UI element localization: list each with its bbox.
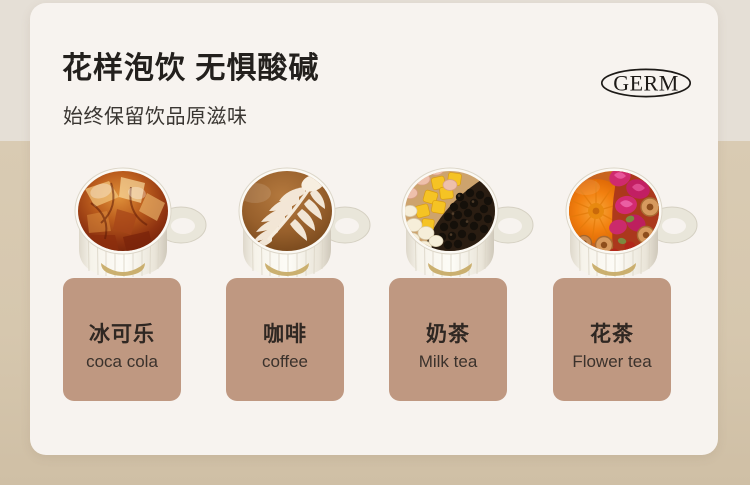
mug-milk-tea — [388, 163, 552, 295]
product-item[interactable]: 花茶 Flower tea — [552, 143, 716, 455]
product-item[interactable]: 咖啡 coffee — [225, 143, 389, 455]
promo-card: 花样泡饮 无惧酸碱 始终保留饮品原滋味 GERM 冰可乐 coca cola — [30, 3, 718, 455]
card-header: 花样泡饮 无惧酸碱 始终保留饮品原滋味 GERM — [30, 3, 718, 143]
product-name-en: Milk tea — [389, 353, 507, 370]
mug-iced-cola — [61, 163, 225, 295]
page-subtitle: 始终保留饮品原滋味 — [63, 107, 248, 127]
product-item[interactable]: 冰可乐 coca cola — [61, 143, 225, 455]
product-name-cn: 咖啡 — [226, 324, 344, 345]
product-label-panel: 奶茶 Milk tea — [389, 278, 507, 401]
product-name-en: Flower tea — [553, 353, 671, 370]
logo-text: GERM — [613, 71, 679, 96]
mug-flower-tea — [552, 163, 716, 295]
product-name-cn: 冰可乐 — [63, 324, 181, 345]
product-name-en: coca cola — [63, 353, 181, 370]
germ-brand-logo: GERM — [600, 66, 692, 100]
product-label-panel: 花茶 Flower tea — [553, 278, 671, 401]
product-row: 冰可乐 coca cola — [30, 143, 718, 455]
product-name-cn: 奶茶 — [389, 324, 507, 345]
product-label-panel: 咖啡 coffee — [226, 278, 344, 401]
page-title: 花样泡饮 无惧酸碱 — [62, 54, 319, 84]
mug-coffee — [225, 163, 389, 295]
product-name-en: coffee — [226, 353, 344, 370]
product-name-cn: 花茶 — [553, 324, 671, 345]
product-label-panel: 冰可乐 coca cola — [63, 278, 181, 401]
product-item[interactable]: 奶茶 Milk tea — [388, 143, 552, 455]
